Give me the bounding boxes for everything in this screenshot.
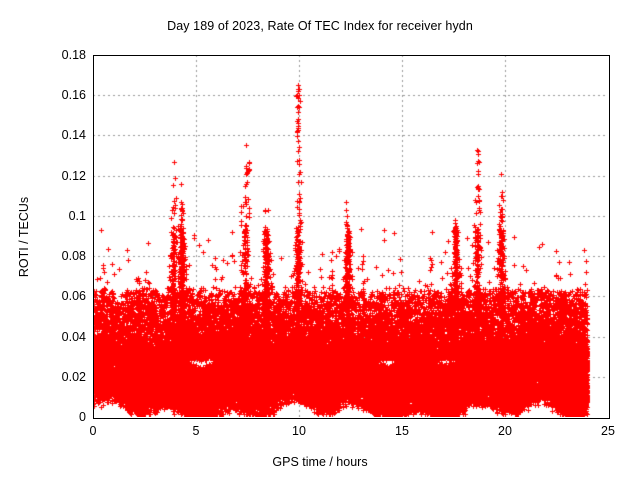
y-axis-ticks: 00.020.040.060.080.10.120.140.160.18 bbox=[0, 0, 86, 480]
y-tick-label: 0.16 bbox=[34, 88, 86, 102]
x-tick-label: 5 bbox=[176, 424, 216, 438]
chart-figure: Day 189 of 2023, Rate Of TEC Index for r… bbox=[0, 0, 640, 480]
y-axis-label: ROTI / TECUs bbox=[17, 167, 31, 307]
y-tick-label: 0.06 bbox=[34, 289, 86, 303]
x-axis-ticks: 0510152025 bbox=[0, 424, 640, 444]
scatter-plot-canvas bbox=[93, 55, 608, 417]
y-tick-label: 0.04 bbox=[34, 330, 86, 344]
x-tick-label: 10 bbox=[279, 424, 319, 438]
x-tick-label: 0 bbox=[73, 424, 113, 438]
x-tick-label: 15 bbox=[382, 424, 422, 438]
x-axis-label: GPS time / hours bbox=[0, 455, 640, 469]
x-tick-label: 20 bbox=[485, 424, 525, 438]
y-tick-label: 0 bbox=[34, 410, 86, 424]
y-tick-label: 0.14 bbox=[34, 128, 86, 142]
y-tick-label: 0.18 bbox=[34, 48, 86, 62]
y-tick-label: 0.12 bbox=[34, 169, 86, 183]
y-tick-label: 0.1 bbox=[34, 209, 86, 223]
y-tick-label: 0.02 bbox=[34, 370, 86, 384]
chart-title: Day 189 of 2023, Rate Of TEC Index for r… bbox=[0, 19, 640, 33]
x-tick-label: 25 bbox=[588, 424, 628, 438]
y-tick-label: 0.08 bbox=[34, 249, 86, 263]
